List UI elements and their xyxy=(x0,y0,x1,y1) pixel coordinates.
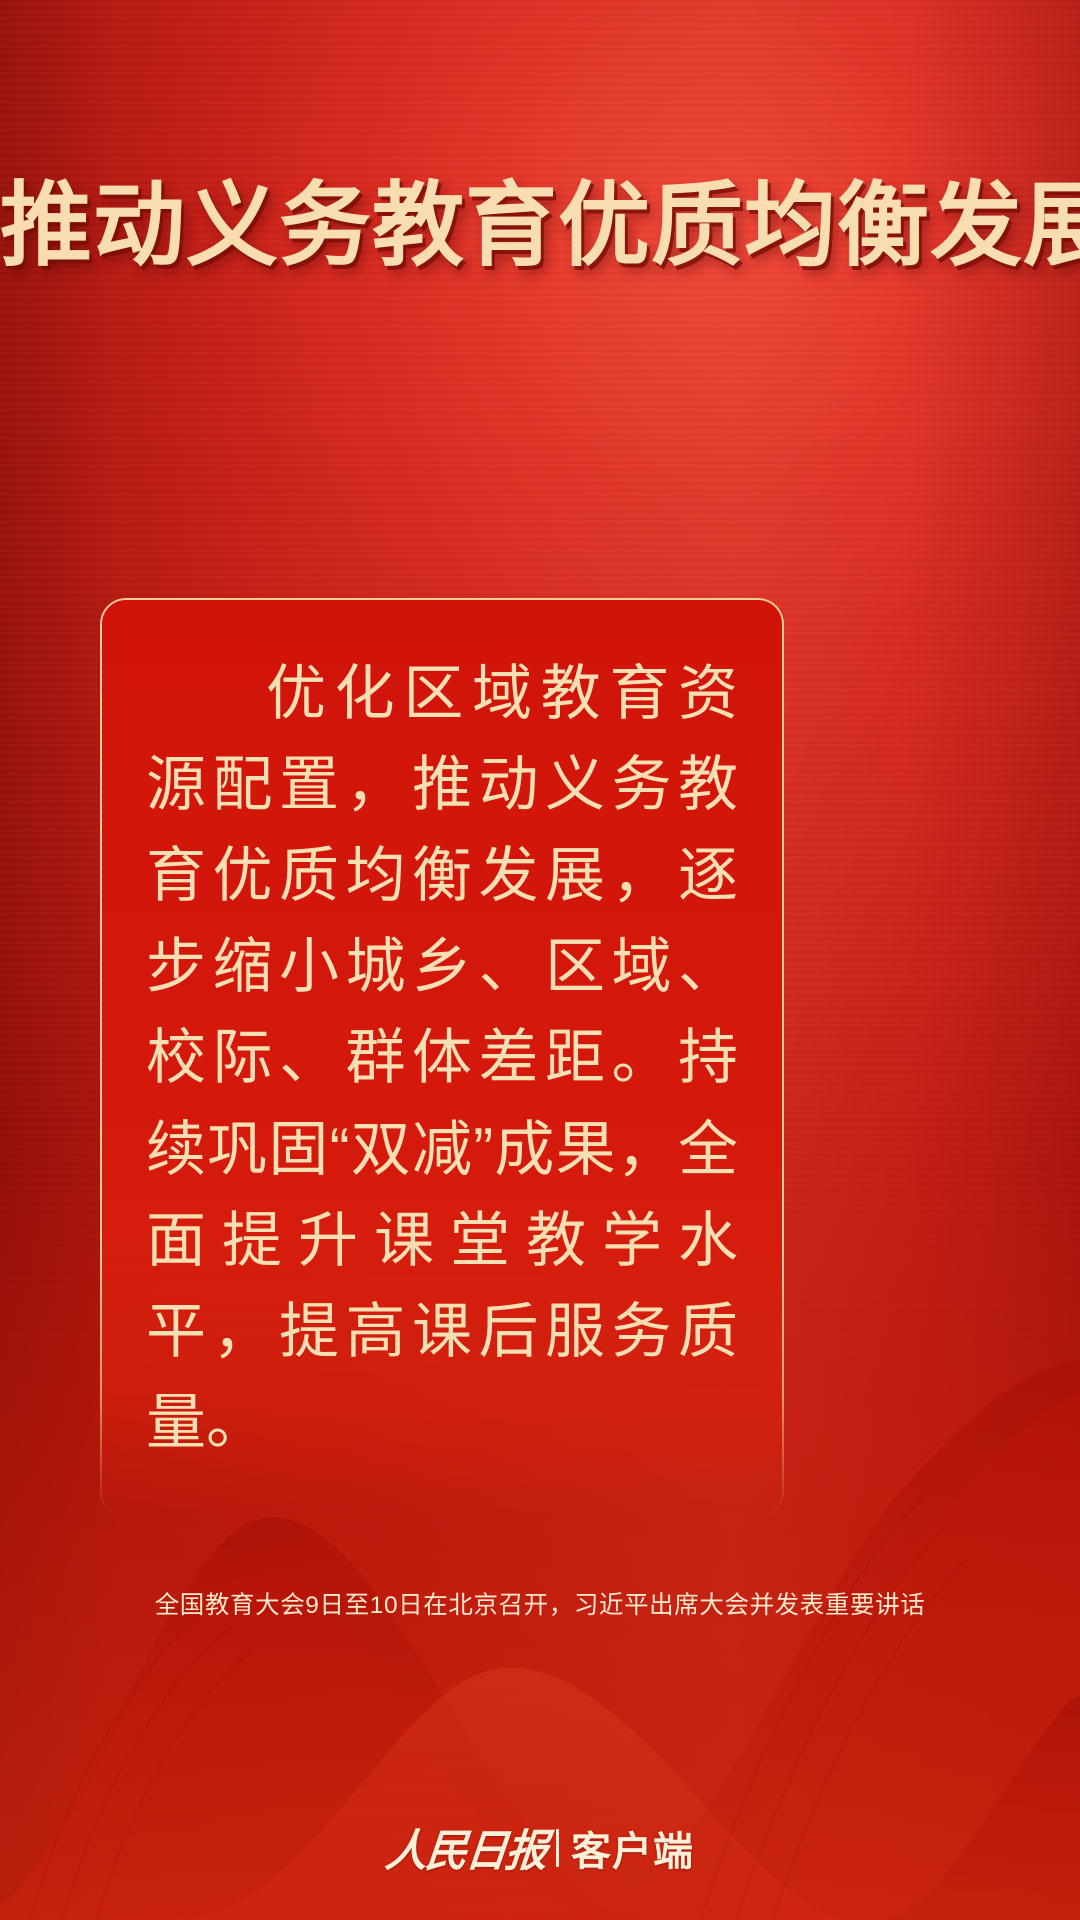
quote-text: 优化区域教育资源配置，推动义务教育优质均衡发展，逐步缩小城乡、区域、校际、群体差… xyxy=(146,648,738,1469)
logo-divider-icon xyxy=(556,1829,559,1867)
app-client-label: 客户端 xyxy=(571,1819,694,1877)
peoples-daily-wordmark: 人民日报 xyxy=(383,1815,550,1879)
footer-logo: 人民日报 客户端 xyxy=(0,1817,1080,1878)
poster-title-container: 推动义务教育优质均衡发展 xyxy=(0,178,1080,275)
page-title: 推动义务教育优质均衡发展 xyxy=(0,178,1080,275)
quote-card-content: 优化区域教育资源配置，推动义务教育优质均衡发展，逐步缩小城乡、区域、校际、群体差… xyxy=(100,598,784,1518)
caption-text: 全国教育大会9日至10日在北京召开，习近平出席大会并发表重要讲话 xyxy=(0,1586,1080,1621)
poster-root: 推动义务教育优质均衡发展 优化区域教育资源配置，推动义务教育优质均衡发展，逐步缩… xyxy=(0,0,1080,1920)
